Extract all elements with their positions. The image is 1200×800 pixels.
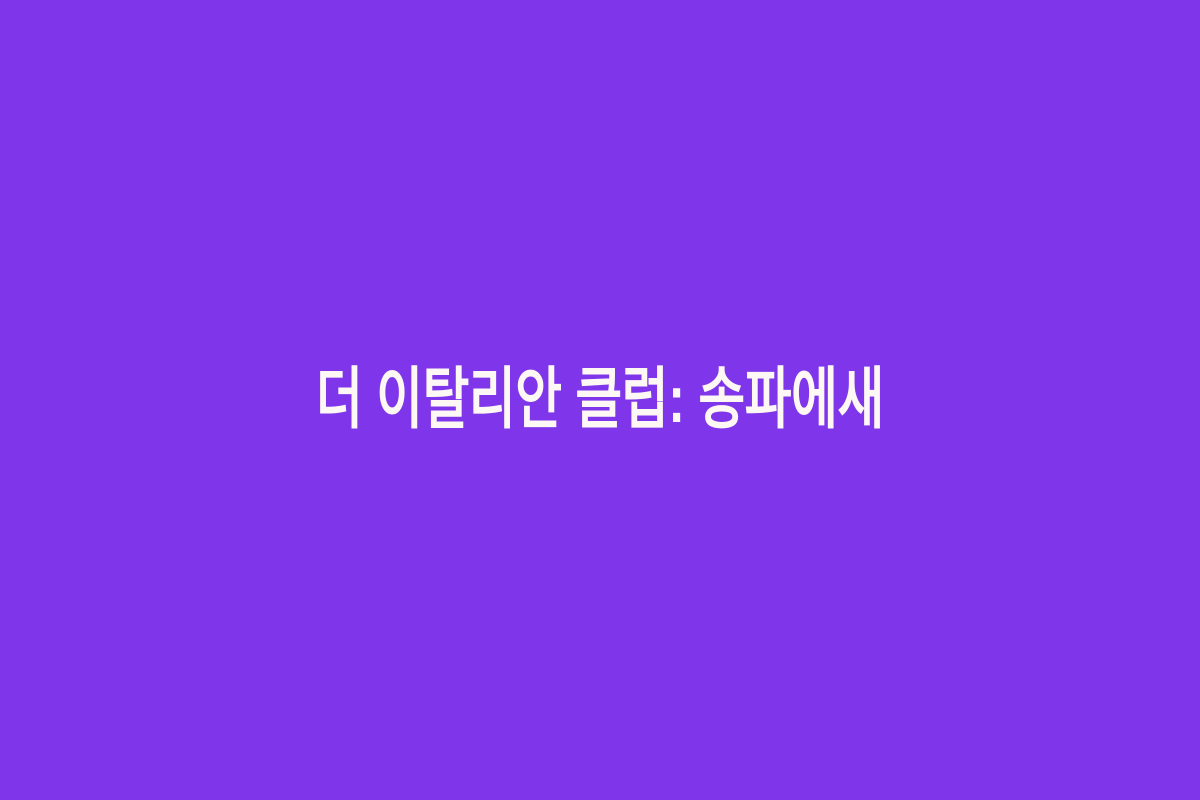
- page-title: 더 이탈리안 클럽: 송파에새 즐기는 특별한 이탈리안 레스토랑: [0, 357, 1200, 443]
- headline-line-1: 더 이탈리안 클럽: 송파에새: [145, 357, 1055, 443]
- banner-canvas: 더 이탈리안 클럽: 송파에새 즐기는 특별한 이탈리안 레스토랑: [0, 0, 1200, 800]
